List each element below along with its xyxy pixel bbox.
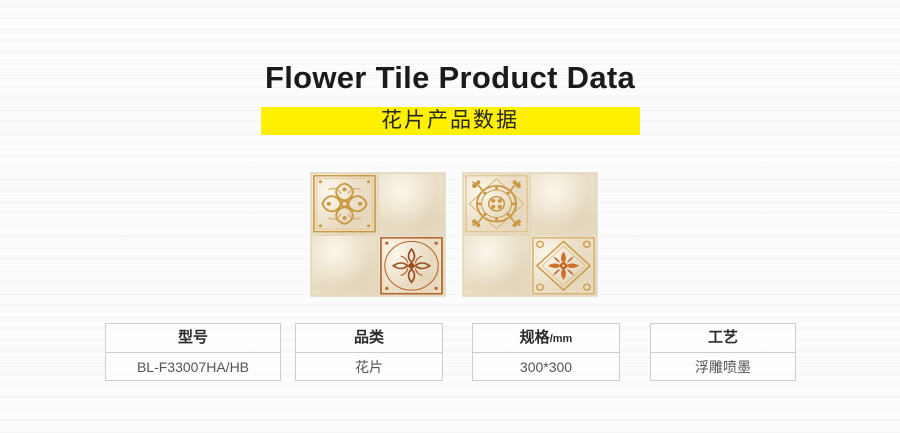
spec-value-model: BL-F33007HA/HB	[106, 353, 280, 381]
tile-sample-hb[interactable]	[463, 173, 597, 296]
spec-cell-model: 型号 BL-F33007HA/HB	[105, 323, 281, 381]
tile-quadrant-plain	[530, 173, 597, 235]
tile-quadrant-plain	[311, 235, 378, 297]
tile-quadrant-plain	[463, 235, 530, 297]
spec-table: 型号 BL-F33007HA/HB 品类 花片 规格/mm 300*300 工艺…	[0, 323, 900, 383]
spec-header-category: 品类	[296, 324, 442, 353]
page-title-cn: 花片产品数据	[381, 109, 519, 132]
subtitle-highlight-band: 花片产品数据	[261, 107, 640, 135]
tile-quadrant-circle-medallion	[463, 173, 530, 235]
page-title-en: Flower Tile Product Data	[0, 58, 900, 98]
spec-value-category: 花片	[296, 353, 442, 381]
product-detail-page: Flower Tile Product Data 花片产品数据	[0, 0, 900, 433]
spec-header-label: 规格	[520, 329, 550, 346]
spec-header-size: 规格/mm	[473, 324, 619, 353]
spec-header-process: 工艺	[651, 324, 795, 353]
tile-quadrant-circle-medallion	[378, 235, 445, 297]
spec-header-label: 工艺	[708, 329, 738, 346]
spec-header-label: 型号	[178, 329, 208, 346]
tile-gallery	[0, 173, 900, 297]
spec-value-size: 300*300	[473, 353, 619, 381]
tile-quadrant-plain	[378, 173, 445, 235]
tile-quadrant-diamond-rosette	[530, 235, 597, 297]
spec-value-process: 浮雕喷墨	[651, 353, 795, 381]
tile-sample-ha[interactable]	[311, 173, 445, 296]
page-header: Flower Tile Product Data 花片产品数据	[0, 58, 900, 135]
spec-header-label: 品类	[354, 329, 384, 346]
spec-cell-size: 规格/mm 300*300	[472, 323, 620, 381]
spec-header-model: 型号	[106, 324, 280, 353]
spec-cell-category: 品类 花片	[295, 323, 443, 381]
spec-cell-process: 工艺 浮雕喷墨	[650, 323, 796, 381]
spec-header-unit: /mm	[550, 333, 573, 345]
tile-quadrant-ornate-scroll	[311, 173, 378, 235]
